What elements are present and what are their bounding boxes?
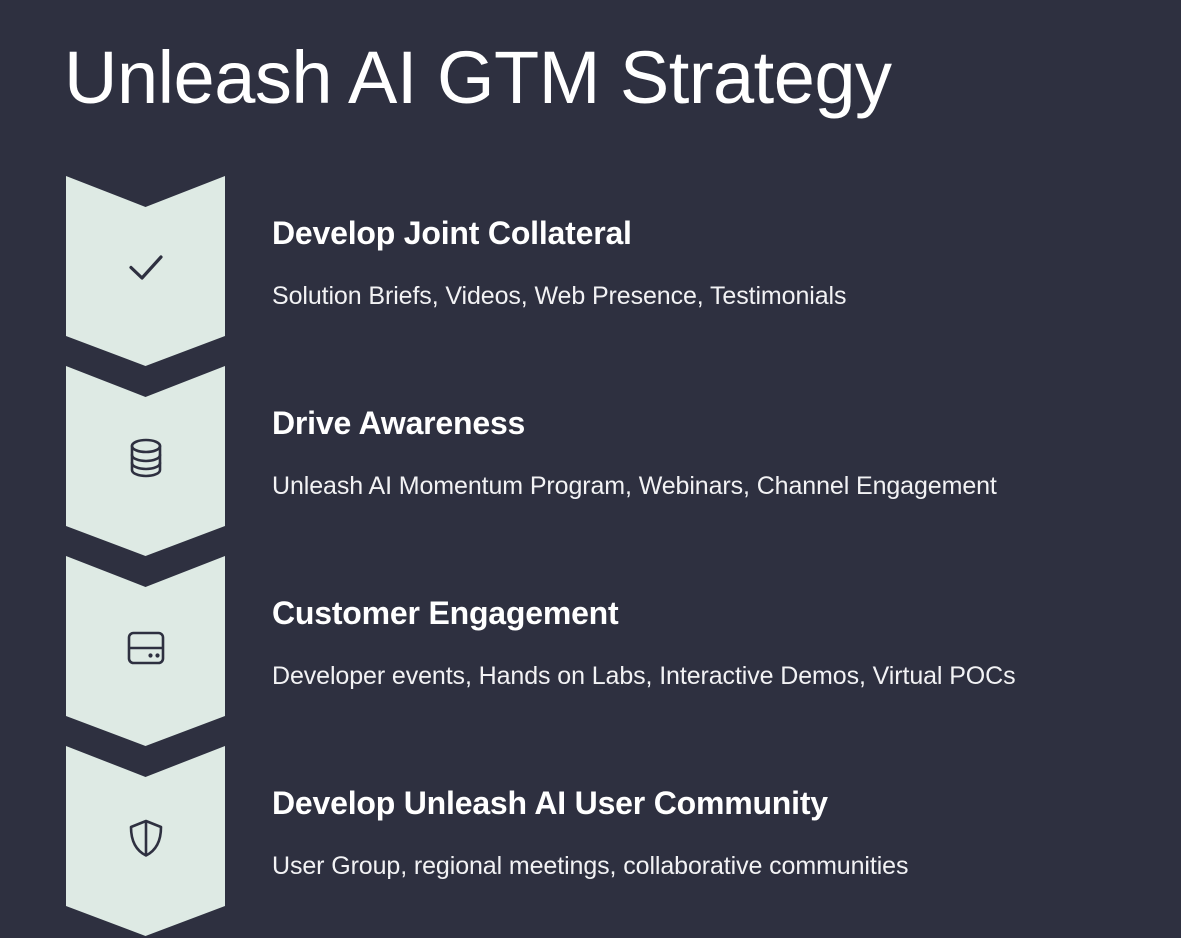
database-icon [118,430,174,486]
step-heading: Develop Joint Collateral [272,214,1152,252]
step-detail: Developer events, Hands on Labs, Interac… [272,661,1152,691]
step-heading: Customer Engagement [272,594,1152,632]
step-detail: User Group, regional meetings, collabora… [272,851,1152,881]
step-heading: Develop Unleash AI User Community [272,784,1152,822]
chevron-step-column [66,176,225,938]
shield-icon [118,810,174,866]
step-heading: Drive Awareness [272,404,1152,442]
step-text-2: Drive Awareness Unleash AI Momentum Prog… [272,404,1152,501]
chevron-step-3[interactable] [66,556,225,746]
step-detail: Solution Briefs, Videos, Web Presence, T… [272,281,1152,311]
server-icon [118,620,174,676]
step-text-1: Develop Joint Collateral Solution Briefs… [272,214,1152,311]
check-icon [118,240,174,296]
chevron-step-1[interactable] [66,176,225,366]
step-text-4: Develop Unleash AI User Community User G… [272,784,1152,881]
chevron-step-4[interactable] [66,746,225,936]
step-detail: Unleash AI Momentum Program, Webinars, C… [272,471,1152,501]
slide-canvas: Unleash AI GTM Strategy [0,0,1181,938]
chevron-step-2[interactable] [66,366,225,556]
step-text-3: Customer Engagement Developer events, Ha… [272,594,1152,691]
page-title: Unleash AI GTM Strategy [64,34,1064,122]
